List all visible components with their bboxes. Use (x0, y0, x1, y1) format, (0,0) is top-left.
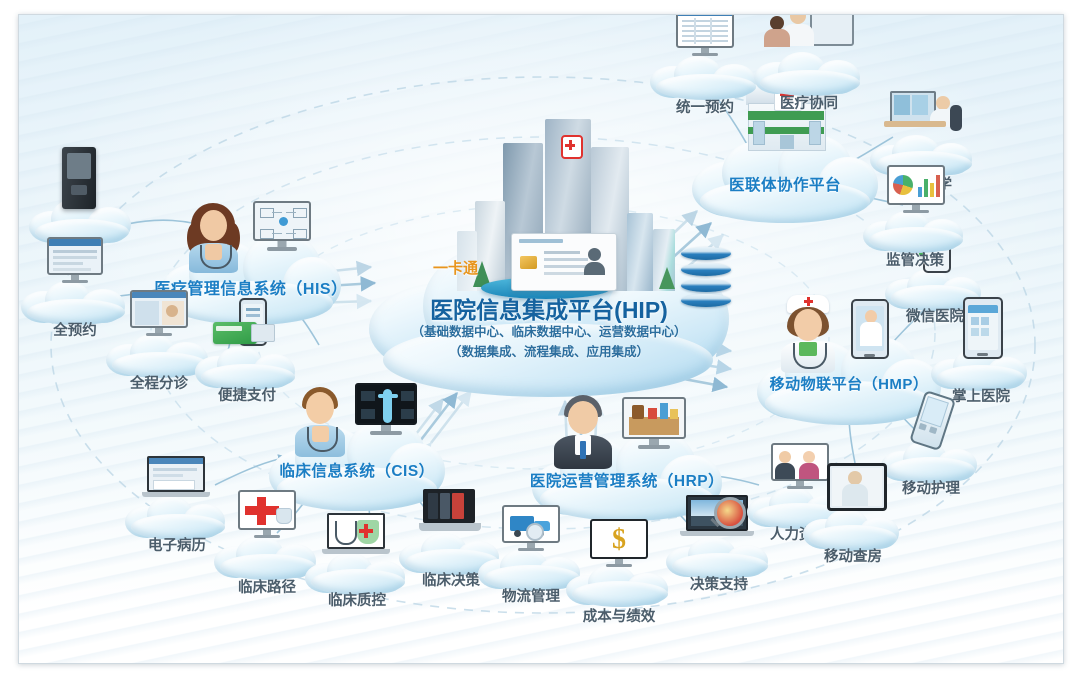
satellite-unified-appointment[interactable]: 统一预约 (650, 48, 760, 102)
satellite-mobile-nursing[interactable]: 移动护理 (881, 433, 981, 485)
monitor-icon (47, 237, 103, 283)
satellite-decision-support[interactable]: 决策支持 (666, 529, 772, 581)
satellite-medical-collaboration[interactable]: 医疗协同 (754, 44, 864, 98)
satellite-label: 成本与绩效 (583, 605, 656, 626)
manager-icon (554, 395, 612, 467)
satellite-clinical-quality[interactable]: 临床质控 (305, 545, 409, 597)
center-tag: 一卡通 (433, 257, 478, 278)
satellite-supervision-decision[interactable]: 监管决策 (863, 203, 967, 255)
satellite-easy-payment[interactable]: 便捷支付 (195, 338, 299, 392)
mobile-phone-icon (963, 297, 1003, 359)
satellite-cost-performance[interactable]: $ 成本与绩效 (566, 557, 672, 609)
laptop-icon (147, 456, 205, 498)
stethoscope-laptop-icon (327, 513, 385, 555)
people-monitor-icon (771, 443, 829, 489)
satellite-full-appointment[interactable]: 全预约 (21, 273, 129, 327)
schedule-monitor-icon (676, 14, 734, 56)
central-platform-hip[interactable]: 一卡通 医院信息集成平台(HIP) （基础数据中心、临床数据中心、运营数据中心）… (369, 205, 729, 405)
network-diagram-monitor-icon (253, 201, 311, 251)
telemedicine-icon (884, 91, 962, 135)
anatomy-monitor-icon (355, 383, 417, 435)
satellite-palm-hospital[interactable]: 掌上医院 (931, 341, 1031, 393)
office-desk-monitor-icon (622, 397, 686, 449)
tablet-icon (827, 463, 887, 511)
diagram-canvas: 一卡通 医院信息集成平台(HIP) （基础数据中心、临床数据中心、运营数据中心）… (18, 14, 1064, 664)
dollar-monitor-icon: $ (590, 519, 648, 567)
nurse-icon (779, 295, 837, 371)
platform-medical-alliance[interactable]: 医联体协作平台 (692, 123, 878, 227)
truck-monitor-icon (502, 505, 560, 551)
center-subtitle-2: （数据集成、流程集成、应用集成） (449, 341, 649, 360)
doctor-male-icon (293, 387, 347, 455)
phone-payment-icon (213, 298, 279, 348)
magnifier-laptop-icon (686, 495, 748, 539)
center-title: 医院信息集成平台(HIP) (430, 291, 668, 325)
binder-laptop-icon (419, 489, 481, 535)
monitor-icon (130, 290, 188, 336)
red-cross-monitor-icon (238, 490, 296, 538)
consult-people-icon (764, 14, 856, 52)
kiosk-icon (62, 147, 96, 209)
satellite-mobile-rounds[interactable]: 移动查房 (803, 501, 903, 553)
doctor-female-icon (185, 203, 241, 271)
center-subtitle-1: （基础数据中心、临床数据中心、运营数据中心） (411, 321, 686, 340)
database-icon (681, 247, 731, 309)
mobile-doctor-phone-icon (851, 299, 889, 359)
charts-monitor-icon (887, 165, 945, 213)
